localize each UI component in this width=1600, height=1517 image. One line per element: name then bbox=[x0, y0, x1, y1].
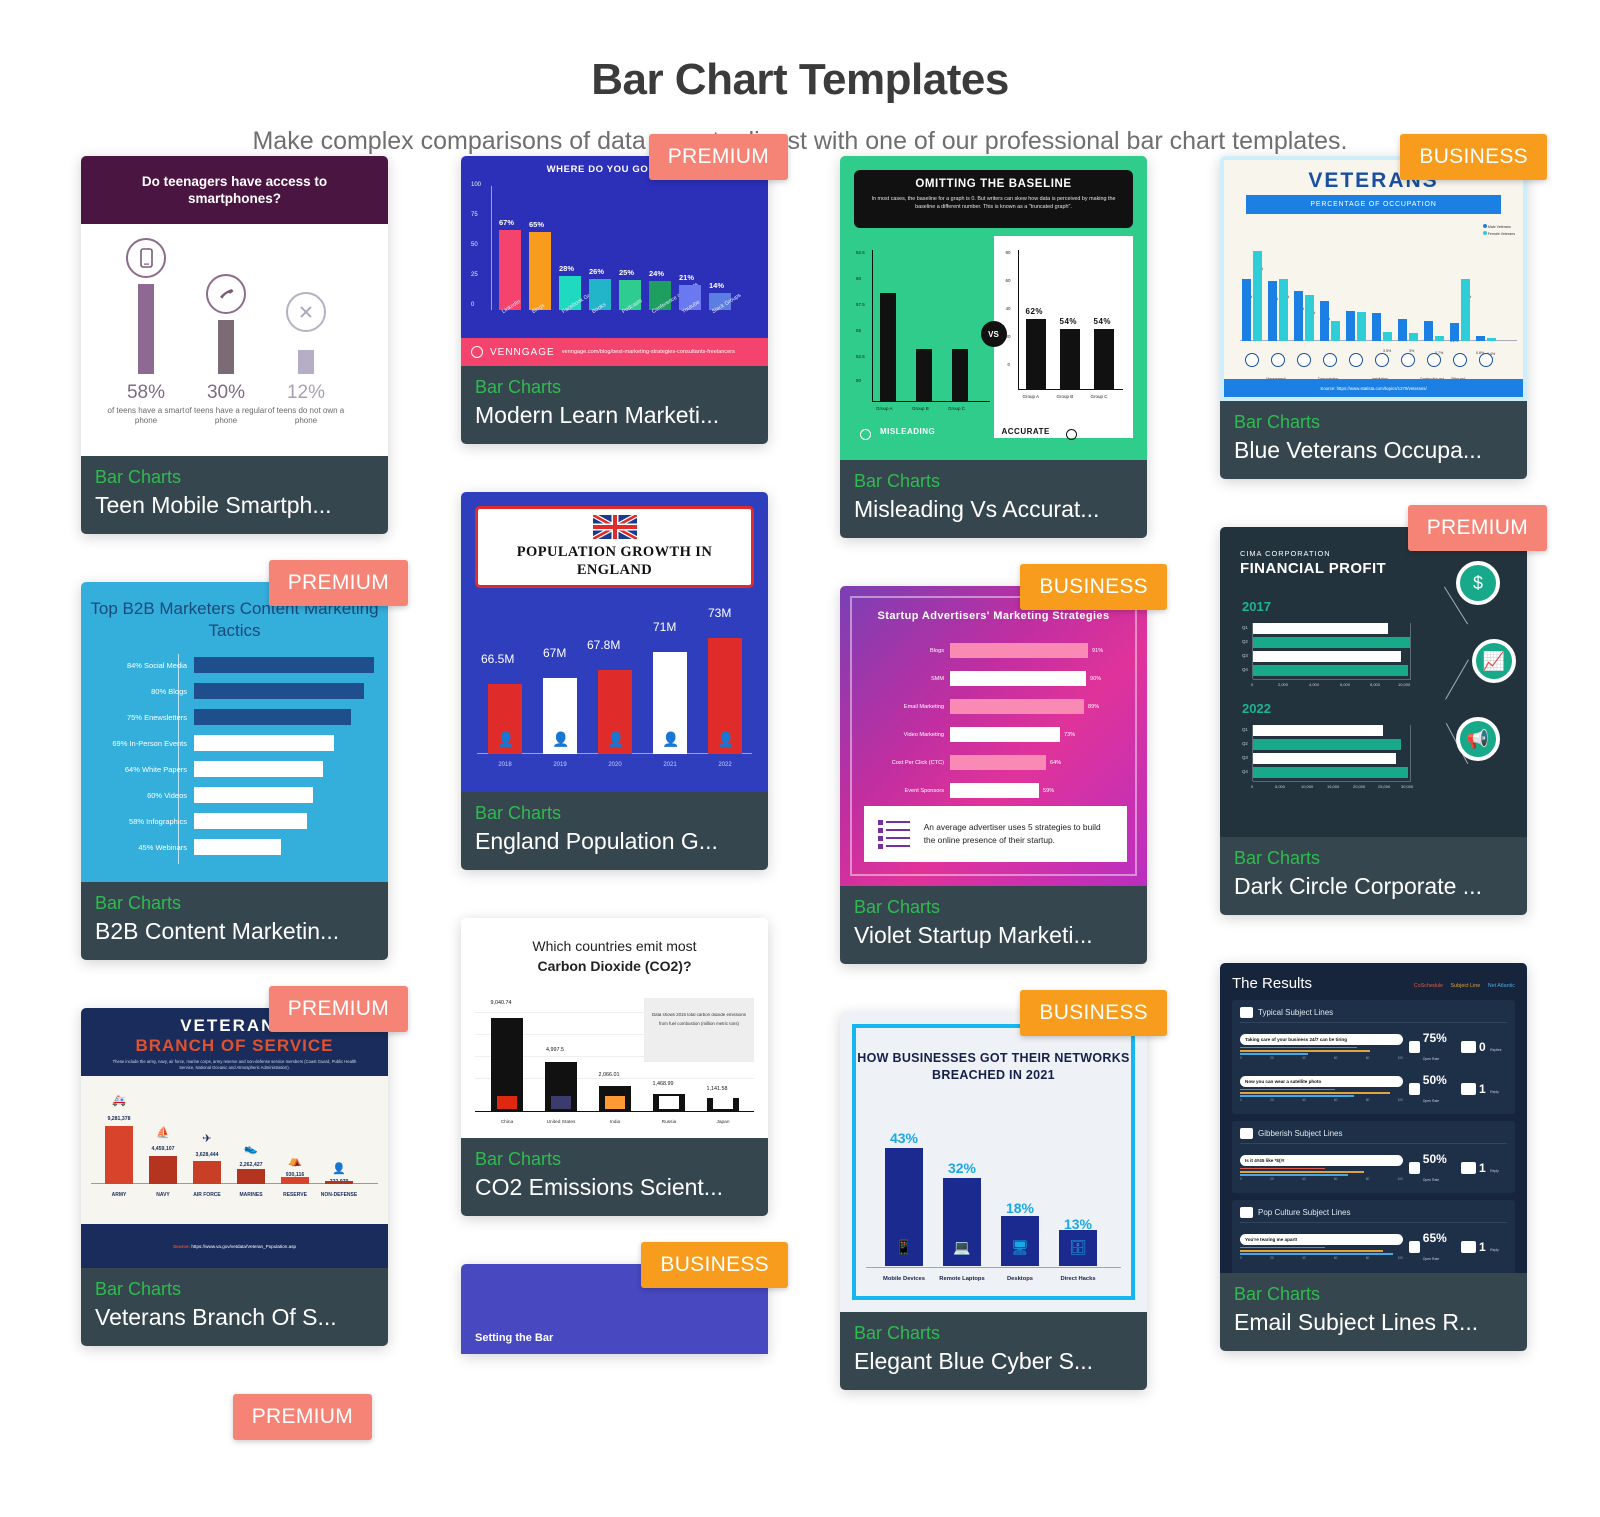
bar bbox=[1060, 329, 1080, 389]
bar bbox=[950, 671, 1086, 686]
bar-label: 2020 bbox=[598, 762, 632, 768]
thumb-heading-line1: Which countries emit most bbox=[532, 938, 696, 954]
thumbnail-blue-veterans: VETERANS PERCENTAGE OF OCCUPATION Male V… bbox=[1220, 156, 1527, 401]
bar-male bbox=[1450, 323, 1459, 341]
replies-label: Reply bbox=[1490, 1090, 1499, 1094]
card-category: Bar Charts bbox=[1234, 845, 1513, 871]
open-rate-label: Open Rate bbox=[1423, 1257, 1439, 1261]
bar-female bbox=[1331, 321, 1340, 341]
thumbnail-email-subject: The Results CoSchedule Subject Line Net … bbox=[1220, 963, 1527, 1273]
thumb-ribbon: PERCENTAGE OF OCCUPATION bbox=[1246, 195, 1501, 214]
card-meta: Bar Charts Blue Veterans Occupa... bbox=[1220, 401, 1527, 479]
section-title: Pop Culture Subject Lines bbox=[1258, 1208, 1351, 1217]
thumb-heading-line2: Carbon Dioxide (CO2)? bbox=[537, 958, 691, 974]
management-icon bbox=[1271, 353, 1285, 367]
russia-flag-icon bbox=[659, 1096, 679, 1109]
bar bbox=[950, 727, 1060, 742]
bar-value: 71M bbox=[653, 620, 676, 634]
bar-value: 66.5M bbox=[481, 652, 514, 666]
card-title: Veterans Branch Of S... bbox=[95, 1302, 374, 1332]
card-category: Bar Charts bbox=[95, 464, 374, 490]
construction-icon bbox=[1427, 353, 1441, 367]
bar-value: 67M bbox=[543, 646, 566, 660]
open-rate: 50% bbox=[1423, 1073, 1447, 1087]
non-defense-icon: 👤 bbox=[325, 1162, 353, 1175]
section-title: Typical Subject Lines bbox=[1258, 1008, 1333, 1017]
badge-business: BUSINESS bbox=[1020, 564, 1167, 610]
phone-icon bbox=[206, 274, 246, 314]
professional-icon bbox=[1245, 353, 1259, 367]
card-title: Misleading Vs Accurat... bbox=[854, 494, 1133, 524]
year-label: 2017 bbox=[1242, 599, 1271, 614]
template-card-veterans-branch[interactable]: PREMIUM VETERANS BRANCH OF SERVICE These… bbox=[81, 1008, 388, 1346]
card-category: Bar Charts bbox=[1234, 1281, 1513, 1307]
bar-row: SMM90% bbox=[860, 666, 1131, 694]
bar bbox=[194, 787, 313, 803]
desktop-icon: 🖥 bbox=[1001, 1239, 1039, 1256]
bar bbox=[950, 783, 1039, 798]
bar-label: 69% In-Person Events bbox=[95, 739, 187, 748]
template-card-england-population[interactable]: POPULATION GROWTH IN ENGLAND 66.5M 2018 … bbox=[461, 492, 768, 870]
thumb-title-plate: POPULATION GROWTH IN ENGLAND bbox=[475, 506, 754, 588]
bar-label: 75% Enewsletters bbox=[95, 713, 187, 722]
bar-value: 67% bbox=[499, 218, 514, 227]
list-icon bbox=[878, 817, 910, 852]
bar-female bbox=[1409, 333, 1418, 341]
bar-male bbox=[1424, 321, 1433, 341]
bar-value: 1,468.99 bbox=[641, 1081, 685, 1087]
bar-value: 67.8M bbox=[587, 638, 620, 652]
caption-accurate: ACCURATE bbox=[1002, 427, 1050, 436]
thumb-source: Source: https://www.va.gov/vetdata/Veter… bbox=[81, 1224, 388, 1268]
japan-flag-icon bbox=[713, 1096, 733, 1109]
open-rate-label: Open Rate bbox=[1423, 1057, 1439, 1061]
bar bbox=[325, 1181, 353, 1184]
replies: 1 bbox=[1479, 1161, 1486, 1175]
bar bbox=[194, 735, 334, 751]
bar-1 bbox=[138, 284, 154, 374]
open-rate-icon bbox=[1409, 1083, 1420, 1095]
china-flag-icon bbox=[497, 1096, 517, 1109]
bar bbox=[950, 699, 1084, 714]
megaphone-icon: 📢 bbox=[1456, 717, 1500, 761]
thumb-header-block: OMITTING THE BASELINE In most cases, the… bbox=[854, 170, 1133, 228]
thumb-heading: The Results bbox=[1232, 975, 1312, 992]
bar-label: SMM bbox=[860, 676, 944, 682]
chart-area: 100 75 50 25 0 67% LinkedIn 65% Blogs 28… bbox=[491, 186, 762, 310]
bar-label: Mobile Devices bbox=[876, 1276, 932, 1282]
thumbnail-dark-circle: CIMA CORPORATION FINANCIAL PROFIT $ 📈 📢 … bbox=[1220, 527, 1527, 837]
bar-value: 2,262,427 bbox=[231, 1162, 271, 1168]
bar-value: 32% bbox=[938, 1160, 986, 1176]
happy-face-icon bbox=[1066, 429, 1077, 440]
stat-1-percent: 58% bbox=[103, 382, 189, 404]
marines-icon: 👟 bbox=[237, 1142, 265, 1155]
bar bbox=[1253, 725, 1383, 736]
bar bbox=[950, 755, 1046, 770]
card-category: Bar Charts bbox=[475, 374, 754, 400]
bar bbox=[194, 813, 307, 829]
thumb-footer: VENNGAGE venngage.com/blog/best-marketin… bbox=[461, 338, 768, 366]
thumb-heading: Setting the Bar bbox=[475, 1332, 553, 1344]
bar bbox=[952, 349, 968, 401]
list-item: Taking care of your business 24/7 can be… bbox=[1240, 1029, 1507, 1065]
bar-male bbox=[1268, 281, 1277, 341]
stat-2-percent: 30% bbox=[183, 382, 269, 404]
thumbnail-co2: Which countries emit most Carbon Dioxide… bbox=[461, 918, 768, 1138]
card-meta: Bar Charts Veterans Branch Of S... bbox=[81, 1268, 388, 1346]
bar-row: Cost Per Click (CTC)64% bbox=[860, 750, 1131, 778]
bar-female bbox=[1435, 336, 1444, 341]
caption-misleading: MISLEADING bbox=[880, 427, 935, 436]
chart-area: 🚑 9,281,378 ARMY ⛵ 4,459,107 NAVY ✈ 3,62… bbox=[91, 1080, 378, 1198]
grid-column-1: Do teenagers have access to smartphones?… bbox=[81, 156, 388, 1394]
person-icon: 👤 bbox=[717, 731, 734, 748]
bar-male bbox=[1242, 279, 1251, 341]
template-card-email-subject-lines[interactable]: The Results CoSchedule Subject Line Net … bbox=[1220, 963, 1527, 1351]
section-title: Gibberish Subject Lines bbox=[1258, 1129, 1343, 1138]
us-flag-icon bbox=[551, 1096, 571, 1109]
bar-value: 24% bbox=[649, 269, 664, 278]
open-rate-label: Open Rate bbox=[1423, 1099, 1439, 1103]
grid-column-3: OMITTING THE BASELINE In most cases, the… bbox=[840, 156, 1147, 1438]
transportation-icon bbox=[1323, 353, 1337, 367]
chart-area: Data shows 2015 total carbon dioxide emi… bbox=[475, 996, 754, 1128]
template-card-misleading-vs-accurate[interactable]: OMITTING THE BASELINE In most cases, the… bbox=[840, 156, 1147, 538]
bar-label: Group B bbox=[1057, 394, 1074, 399]
bar bbox=[1253, 767, 1408, 778]
growth-chart-icon: 📈 bbox=[1472, 639, 1516, 683]
bar-row: 69% In-Person Events bbox=[95, 732, 374, 758]
thumb-source: Source: https://www.statista.com/topics/… bbox=[1224, 379, 1523, 397]
bar-male bbox=[1372, 313, 1381, 341]
bar-label: NAVY bbox=[140, 1192, 186, 1198]
replies-icon bbox=[1461, 1162, 1476, 1174]
sales-icon bbox=[1349, 353, 1363, 367]
list-item: You're tearing me apart! 020406080100 65… bbox=[1240, 1229, 1507, 1265]
template-card-blue-veterans[interactable]: BUSINESS VETERANS PERCENTAGE OF OCCUPATI… bbox=[1220, 156, 1527, 479]
thumb-subheading: These include the army, navy, air force,… bbox=[81, 1059, 388, 1071]
bar-male bbox=[1294, 291, 1303, 341]
card-title: Elegant Blue Cyber S... bbox=[854, 1346, 1133, 1376]
bar-label: Group A bbox=[1023, 394, 1040, 399]
bar-label: Cost Per Click (CTC) bbox=[860, 760, 944, 766]
thumbnail-misleading: OMITTING THE BASELINE In most cases, the… bbox=[840, 156, 1147, 460]
templates-page: Bar Chart Templates Make complex compari… bbox=[0, 0, 1600, 1517]
chat-star-icon bbox=[1240, 1207, 1253, 1218]
source-url: https://www.va.gov/vetdata/Veteran_Popul… bbox=[191, 1244, 296, 1249]
stat-2-caption: of teens have a regular phone bbox=[183, 406, 269, 426]
card-title: Email Subject Lines R... bbox=[1234, 1307, 1513, 1337]
bar-row: 64% White Papers bbox=[95, 758, 374, 784]
bar-label: 2019 bbox=[543, 762, 577, 768]
bar-label: Group C bbox=[1091, 394, 1108, 399]
bar-value: 73M bbox=[708, 606, 731, 620]
open-rate-icon bbox=[1409, 1162, 1420, 1174]
bar-female bbox=[1487, 338, 1496, 341]
badge-premium: PREMIUM bbox=[269, 986, 408, 1032]
replies-icon bbox=[1461, 1241, 1476, 1253]
badge-business: BUSINESS bbox=[1400, 134, 1547, 180]
template-card-network-breached[interactable]: BUSINESS HOW BUSINESSES GOT THEIR NETWOR… bbox=[840, 1012, 1147, 1390]
badge-business: BUSINESS bbox=[641, 1242, 788, 1288]
card-meta: Bar Charts CO2 Emissions Scient... bbox=[461, 1138, 768, 1216]
card-category: Bar Charts bbox=[95, 890, 374, 916]
replies-label: Reply bbox=[1490, 1169, 1499, 1173]
bar-value: 21% bbox=[679, 273, 694, 282]
card-meta: Bar Charts Email Subject Lines R... bbox=[1220, 1273, 1527, 1351]
bar-value: 18% bbox=[996, 1200, 1044, 1216]
bar-value: 1,141.58 bbox=[695, 1086, 739, 1092]
bar-label: United States bbox=[534, 1120, 588, 1125]
bar bbox=[1253, 753, 1396, 764]
hack-icon: 🗄 bbox=[1059, 1239, 1097, 1256]
card-title: Blue Veterans Occupa... bbox=[1234, 435, 1513, 465]
smartphone-icon bbox=[126, 238, 166, 278]
bar bbox=[194, 657, 374, 673]
thumb-kicker: CIMA CORPORATION bbox=[1240, 549, 1331, 558]
bar-value: 54% bbox=[1060, 317, 1078, 326]
navy-icon: ⛵ bbox=[149, 1126, 177, 1139]
legend-female: Female Veterans bbox=[1488, 232, 1515, 236]
bar-label: 64% White Papers bbox=[95, 765, 187, 774]
sad-face-icon bbox=[860, 429, 871, 440]
card-title: Teen Mobile Smartph... bbox=[95, 490, 374, 520]
bar bbox=[1253, 651, 1401, 662]
card-category: Bar Charts bbox=[1234, 409, 1513, 435]
bar-label: 84% Social Media bbox=[95, 661, 187, 670]
legend-subject-line: Subject Line bbox=[1451, 983, 1481, 989]
laptop-icon: 💻 bbox=[943, 1239, 981, 1256]
bar bbox=[194, 761, 323, 777]
bar-value: 3,628,444 bbox=[187, 1152, 227, 1158]
thumbnail-b2b: Top B2B Marketers Content Marketing Tact… bbox=[81, 582, 388, 882]
bar bbox=[1094, 329, 1114, 389]
chat-briefcase-icon bbox=[1240, 1007, 1253, 1018]
legend: Male Veterans Female Veterans bbox=[1483, 224, 1515, 236]
legend-coschedule: CoSchedule bbox=[1414, 983, 1443, 989]
bar-label: Event Sponsors bbox=[860, 788, 944, 794]
bar-row: 75% Enewsletters bbox=[95, 706, 374, 732]
bar bbox=[149, 1156, 177, 1184]
chart-note: Data shows 2015 total carbon dioxide emi… bbox=[644, 998, 754, 1062]
badge-premium: PREMIUM bbox=[1408, 505, 1547, 551]
card-category: Bar Charts bbox=[475, 1146, 754, 1172]
card-category: Bar Charts bbox=[95, 1276, 374, 1302]
bar-label: Direct Hacks bbox=[1050, 1276, 1106, 1282]
chart-misleading: 62.5 60 57.5 55 52.5 50 Group A Group B bbox=[854, 236, 994, 438]
bar-value: 64% bbox=[1050, 760, 1061, 766]
replies-label: Replies bbox=[1490, 1048, 1501, 1052]
subject-text: You're tearing me apart! bbox=[1240, 1234, 1403, 1245]
card-meta: Bar Charts Dark Circle Corporate ... bbox=[1220, 837, 1527, 915]
subject-text: Is it 4#45 like *$(#! bbox=[1240, 1155, 1403, 1166]
y-tick: 100 bbox=[471, 182, 481, 188]
india-flag-icon bbox=[605, 1096, 625, 1109]
bar-value: 2,066.01 bbox=[587, 1072, 631, 1078]
card-title: England Population G... bbox=[475, 826, 754, 856]
bar-female bbox=[1253, 251, 1262, 341]
bar-label: AIR FORCE bbox=[184, 1192, 230, 1198]
replies-icon bbox=[1461, 1083, 1476, 1095]
bar-label: Desktops bbox=[992, 1276, 1048, 1282]
bar-value: 9,281,378 bbox=[99, 1116, 139, 1122]
bar bbox=[194, 709, 351, 725]
mobile-icon: 📱 bbox=[885, 1239, 923, 1256]
badge-business: BUSINESS bbox=[1020, 990, 1167, 1036]
service-icon bbox=[1297, 353, 1311, 367]
bar-label: Group B bbox=[912, 406, 929, 411]
card-title: CO2 Emissions Scient... bbox=[475, 1172, 754, 1202]
bar bbox=[880, 293, 896, 401]
thumb-heading: FINANCIAL PROFIT bbox=[1240, 560, 1386, 577]
bar-rows: 84% Social Media 80% Blogs 75% Enewslett… bbox=[95, 654, 374, 862]
card-meta: Bar Charts Violet Startup Marketi... bbox=[840, 886, 1147, 964]
bar-value: 25% bbox=[619, 268, 634, 277]
replies-label: Reply bbox=[1490, 1248, 1499, 1252]
bar bbox=[1026, 319, 1046, 389]
y-tick: 50 bbox=[471, 242, 478, 248]
bar-value: 26% bbox=[589, 267, 604, 276]
thumb-heading: POPULATION GROWTH IN ENGLAND bbox=[478, 543, 751, 579]
grid-column-4: BUSINESS VETERANS PERCENTAGE OF OCCUPATI… bbox=[1220, 156, 1527, 1399]
army-icon: 🚑 bbox=[105, 1094, 133, 1107]
bar-value: 89% bbox=[1088, 704, 1099, 710]
bar bbox=[1253, 665, 1408, 676]
bar-row: 58% Infographics bbox=[95, 810, 374, 836]
axis-baseline bbox=[866, 1267, 1121, 1268]
production-icon bbox=[1401, 353, 1415, 367]
bar-female bbox=[1383, 332, 1392, 341]
bar-label: 2021 bbox=[653, 762, 687, 768]
bar-value: 28% bbox=[559, 264, 574, 273]
thumb-subheading: In most cases, the baseline for a graph … bbox=[868, 195, 1119, 211]
template-card-modern-learn-marketing[interactable]: PREMIUM WHERE DO YOU GO TO LE 100 75 50 … bbox=[461, 156, 768, 444]
open-rate-icon bbox=[1409, 1241, 1420, 1253]
thumbnail-violet-startup: Startup Advertisers' Marketing Strategie… bbox=[840, 586, 1147, 886]
bar-label: China bbox=[480, 1120, 534, 1125]
vs-badge: VS bbox=[981, 321, 1007, 347]
card-meta: Bar Charts Teen Mobile Smartph... bbox=[81, 456, 388, 534]
year-label: 2022 bbox=[1242, 701, 1271, 716]
y-tick: 0 bbox=[471, 302, 474, 308]
bar bbox=[950, 643, 1088, 658]
chart-area: 66.5M 2018 67M 2019 67.8M 2020 71M 2021 … bbox=[477, 602, 752, 772]
bar bbox=[194, 839, 281, 855]
thumbnail-teen-mobile: Do teenagers have access to smartphones?… bbox=[81, 156, 388, 456]
bar-row: Video Marketing73% bbox=[860, 722, 1131, 750]
person-icon: 👤 bbox=[662, 731, 679, 748]
card-meta: Bar Charts Misleading Vs Accurat... bbox=[840, 460, 1147, 538]
bar-label: Russia bbox=[642, 1120, 696, 1125]
bar-label: ARMY bbox=[96, 1192, 142, 1198]
badge-premium: PREMIUM bbox=[233, 1394, 372, 1440]
bar-label: NON-DEFENSE bbox=[316, 1192, 362, 1198]
template-card-teen-mobile[interactable]: Do teenagers have access to smartphones?… bbox=[81, 156, 388, 534]
replies: 0 bbox=[1479, 1040, 1486, 1054]
template-card-dark-circle[interactable]: PREMIUM CIMA CORPORATION FINANCIAL PROFI… bbox=[1220, 527, 1527, 915]
chart-accurate: 80 60 40 20 0 62% 54% 54% Group A bbox=[994, 236, 1134, 438]
thumbnail-modern-learn: WHERE DO YOU GO TO LE 100 75 50 25 0 67%… bbox=[461, 156, 768, 366]
person-icon: 👤 bbox=[497, 731, 514, 748]
bar-label: MARINES bbox=[228, 1192, 274, 1198]
list-item: Is it 4#45 like *$(#! 020406080100 50% O… bbox=[1240, 1150, 1507, 1186]
bar bbox=[529, 232, 551, 310]
open-rate: 75% bbox=[1423, 1031, 1447, 1045]
bar bbox=[1253, 623, 1388, 634]
grid-column-2: PREMIUM WHERE DO YOU GO TO LE 100 75 50 … bbox=[461, 156, 768, 1402]
bar-value: 4,997.5 bbox=[533, 1047, 577, 1053]
office-admin-icon bbox=[1453, 353, 1467, 367]
card-title: Modern Learn Marketi... bbox=[475, 400, 754, 430]
thumb-heading: HOW BUSINESSES GOT THEIR NETWORKS BREACH… bbox=[856, 1028, 1131, 1084]
bar-female bbox=[1357, 312, 1366, 341]
note-text: An average advertiser uses 5 strategies … bbox=[924, 821, 1113, 847]
venngage-logo-icon bbox=[471, 346, 483, 358]
bar bbox=[1253, 637, 1410, 648]
card-category: Bar Charts bbox=[854, 1320, 1133, 1346]
card-category: Bar Charts bbox=[475, 800, 754, 826]
brand-name: VENNGAGE bbox=[490, 347, 555, 358]
card-category: Bar Charts bbox=[854, 894, 1133, 920]
bar-value: 65% bbox=[529, 220, 544, 229]
chat-code-icon bbox=[1240, 1128, 1253, 1139]
replies: 1 bbox=[1479, 1082, 1486, 1096]
reserve-icon: ⛺ bbox=[281, 1154, 309, 1167]
bar-label: Group A bbox=[876, 406, 893, 411]
bar bbox=[281, 1177, 309, 1184]
bar-label: 2022 bbox=[708, 762, 742, 768]
template-card-b2b-content-marketing[interactable]: PREMIUM Top B2B Marketers Content Market… bbox=[81, 582, 388, 960]
thumb-heading: Startup Advertisers' Marketing Strategie… bbox=[840, 610, 1147, 622]
card-meta: Bar Charts B2B Content Marketin... bbox=[81, 882, 388, 960]
bar-female bbox=[1305, 295, 1314, 341]
bar bbox=[237, 1169, 265, 1184]
bar-label: Email Marketing bbox=[860, 704, 944, 710]
stat-3-caption: of teens do not own a phone bbox=[263, 406, 349, 426]
template-card-setting-the-bar[interactable]: BUSINESS Setting the Bar bbox=[461, 1264, 768, 1354]
bar-male bbox=[1476, 336, 1485, 341]
bar-2 bbox=[218, 320, 234, 374]
template-card-violet-startup[interactable]: BUSINESS Startup Advertisers' Marketing … bbox=[840, 586, 1147, 964]
page-subtitle: Make complex comparisons of data easy to… bbox=[0, 127, 1600, 156]
bar bbox=[194, 683, 364, 699]
section-typical: Typical Subject Lines Taking care of you… bbox=[1232, 1000, 1515, 1114]
template-grid: Do teenagers have access to smartphones?… bbox=[70, 156, 1530, 1456]
source-label: Source: bbox=[173, 1244, 190, 1249]
card-title: B2B Content Marketin... bbox=[95, 916, 374, 946]
bar-3 bbox=[298, 350, 314, 374]
open-rate-label: Open Rate bbox=[1423, 1178, 1439, 1182]
card-meta: Bar Charts Elegant Blue Cyber S... bbox=[840, 1312, 1147, 1390]
bar-male bbox=[1346, 311, 1355, 341]
open-rate-icon bbox=[1409, 1041, 1420, 1053]
thumb-heading: OMITTING THE BASELINE bbox=[868, 178, 1119, 190]
money-cycle-icon: $ bbox=[1456, 561, 1500, 605]
bar-label: RESERVE bbox=[272, 1192, 318, 1198]
template-card-co2-emissions[interactable]: Which countries emit most Carbon Dioxide… bbox=[461, 918, 768, 1216]
card-category: Bar Charts bbox=[854, 468, 1133, 494]
card-meta: Bar Charts England Population G... bbox=[461, 792, 768, 870]
bar-label: Group C bbox=[948, 406, 965, 411]
thumb-note: An average advertiser uses 5 strategies … bbox=[864, 806, 1127, 862]
bar-label: Video Marketing bbox=[860, 732, 944, 738]
bar-label: 80% Blogs bbox=[95, 687, 187, 696]
bar-value: 59% bbox=[1043, 788, 1054, 794]
bar-row: Email Marketing89% bbox=[860, 694, 1131, 722]
list-item: Here's looking at you, kid 020406080100 … bbox=[1240, 1271, 1507, 1273]
bar-value: 90% bbox=[1090, 676, 1101, 682]
